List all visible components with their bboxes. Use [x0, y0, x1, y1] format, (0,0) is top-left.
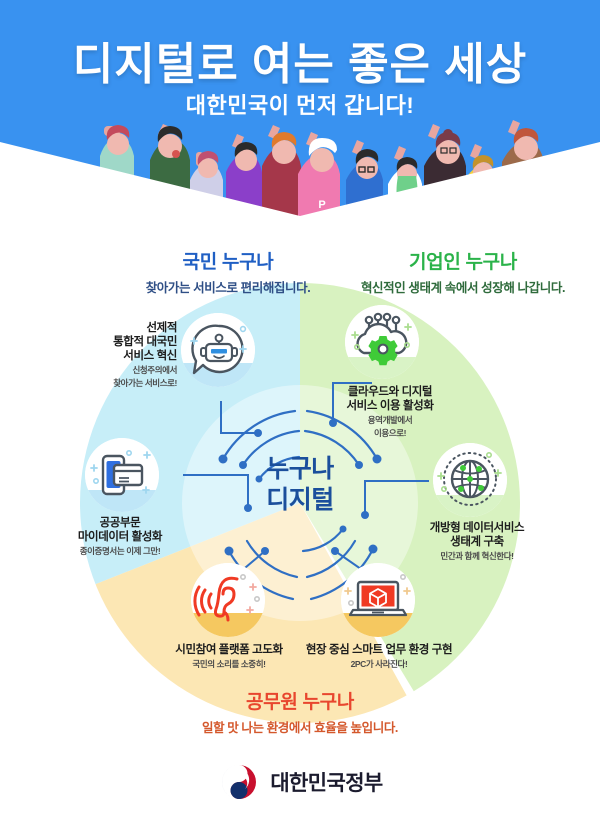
- node-opendata-label: 개방형 데이터서비스 생태계 구축 민간과 함께 혁신한다!: [397, 521, 557, 562]
- node-smartwork-label: 현장 중심 스마트 업무 환경 구현 2PC가 사라진다!: [281, 643, 477, 670]
- phone-card-icon: [85, 438, 159, 512]
- center-line-2: 디지털: [230, 485, 370, 516]
- node-service-sub-2: 찾아가는 서비스로!: [81, 378, 177, 389]
- sector-title-citizen: 국민 누구나: [98, 247, 358, 274]
- node-cloud-line-1: 클라우드와 디지털: [315, 385, 465, 399]
- sector-heading-business: 기업인 누구나 혁신적인 생태계 속에서 성장해 나갑니다.: [333, 247, 593, 296]
- node-service-sub-1: 신청주의에서: [81, 365, 177, 376]
- sector-heading-citizen: 국민 누구나 찾아가는 서비스로 편리해집니다.: [98, 247, 358, 296]
- node-smartwork-sub-1: 2PC가 사라진다!: [281, 659, 477, 670]
- node-service-line-1: 선제적: [81, 321, 177, 335]
- diagram-wheel: 국민 누구나 찾아가는 서비스로 편리해집니다. 기업인 누구나 혁신적인 생태…: [43, 283, 557, 723]
- node-opendata-line-2: 생태계 구축: [397, 535, 557, 549]
- wheel-center-label: 누구나 디지털: [230, 454, 370, 516]
- node-service-line-2: 통합적 대국민: [81, 335, 177, 349]
- globe-network-icon: [433, 443, 507, 517]
- sector-subtitle-citizen: 찾아가는 서비스로 편리해집니다.: [98, 277, 358, 296]
- node-service-line-3: 서비스 혁신: [81, 349, 177, 363]
- node-mydata-line-2: 마이데이터 활성화: [45, 530, 195, 544]
- center-line-1: 누구나: [230, 454, 370, 485]
- header-banner: P: [0, 0, 600, 216]
- node-cloud-sub-1: 용역개발에서: [315, 415, 465, 426]
- node-cloud-sub-2: 이용으로!: [315, 428, 465, 439]
- node-mydata-sub-1: 종이증명서는 이제 그만!: [45, 546, 195, 557]
- page-title: 디지털로 여는 좋은 세상: [0, 28, 600, 92]
- korea-government-taegeuk-logo-icon: [217, 762, 261, 802]
- sector-title-business: 기업인 누구나: [333, 247, 593, 274]
- node-smartwork-line-1: 현장 중심 스마트 업무 환경 구현: [281, 643, 477, 657]
- node-opendata-sub-1: 민간과 함께 혁신한다!: [397, 551, 557, 562]
- node-service-label: 선제적 통합적 대국민 서비스 혁신 신청주의에서 찾아가는 서비스로!: [81, 321, 177, 389]
- node-cloud-label: 클라우드와 디지털 서비스 이용 활성화 용역개발에서 이용으로!: [315, 385, 465, 439]
- cloud-gear-icon: [345, 305, 419, 379]
- listening-ear-icon: [191, 563, 265, 637]
- footer: 대한민국정부: [0, 755, 600, 809]
- sector-subtitle-business: 혁신적인 생태계 속에서 성장해 나갑니다.: [333, 277, 593, 296]
- sector-heading-officer: 공무원 누구나 일할 맛 나는 환경에서 효율을 높입니다.: [170, 687, 430, 736]
- node-cloud-line-2: 서비스 이용 활성화: [315, 399, 465, 413]
- laptop-cube-icon: [341, 563, 415, 637]
- node-mydata-label: 공공부문 마이데이터 활성화 종이증명서는 이제 그만!: [45, 516, 195, 557]
- node-mydata-line-1: 공공부문: [45, 516, 195, 530]
- sector-title-officer: 공무원 누구나: [170, 687, 430, 714]
- government-name: 대한민국정부: [270, 767, 382, 797]
- page-subtitle: 대한민국이 먼저 갑니다!: [0, 88, 600, 120]
- node-opendata-line-1: 개방형 데이터서비스: [397, 521, 557, 535]
- chat-robot-icon: [181, 313, 255, 387]
- sector-subtitle-officer: 일할 맛 나는 환경에서 효율을 높입니다.: [170, 717, 430, 736]
- svg-text:P: P: [318, 199, 325, 211]
